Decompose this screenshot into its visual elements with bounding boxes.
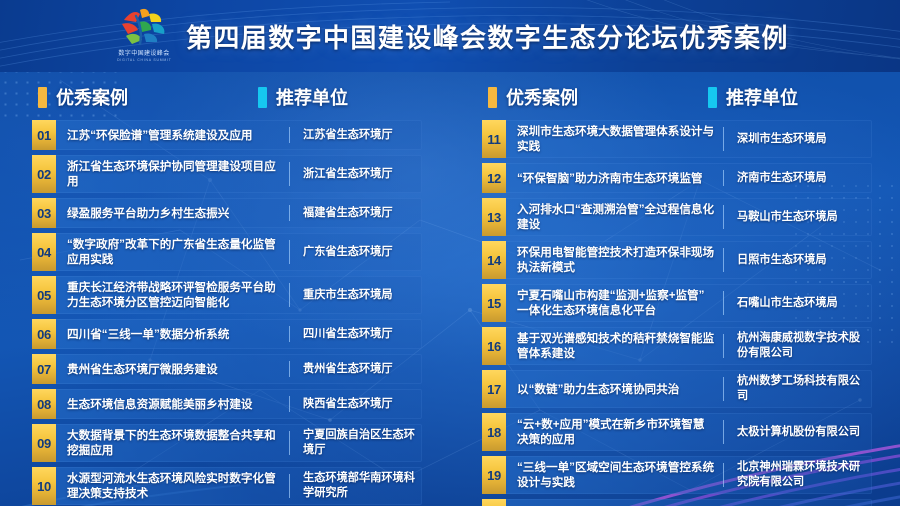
case-row[interactable]: 02浙江省生态环境保护协同管理建设项目应用浙江省生态环境厅 <box>32 155 422 193</box>
recommending-unit-cell: 宁夏回族自治区生态环境厅 <box>290 424 422 462</box>
case-row[interactable]: 13入河排水口“查测溯治管”全过程信息化建设马鞍山市生态环境局 <box>482 198 872 236</box>
case-title-cell: 基于双光谱感知技术的秸秆禁烧智能监管体系建设 <box>506 327 723 365</box>
case-title-cell: 深圳市生态环境大数据管理体系设计与实践 <box>506 120 723 158</box>
case-row[interactable]: 11深圳市生态环境大数据管理体系设计与实践深圳市生态环境局 <box>482 120 872 158</box>
gold-marker-icon <box>488 87 497 108</box>
case-title-cell: 生态环境信息资源赋能美丽乡村建设 <box>56 389 289 419</box>
case-table: 01江苏“环保脸谱”管理系统建设及应用江苏省生态环境厅02浙江省生态环境保护协同… <box>0 120 900 492</box>
header-unit-right: 推荐单位 <box>708 84 798 110</box>
case-title-cell: 入河排水口“查测溯治管”全过程信息化建设 <box>506 198 723 236</box>
poster-root: 数字中国建设峰会 DIGITAL CHINA SUMMIT 第四届数字中国建设峰… <box>0 0 900 506</box>
case-title-cell: 重点企业污染防治大数据应用 <box>506 499 723 506</box>
recommending-unit-cell: 生态环境部华南环境科学研究所 <box>290 467 422 505</box>
recommending-unit-cell: 杭州海康威视数字技术股份有限公司 <box>724 327 872 365</box>
case-title-text: 江苏“环保脸谱”管理系统建设及应用 <box>67 128 253 143</box>
case-number-badge: 10 <box>32 467 56 505</box>
recommending-unit-text: 重庆市生态环境局 <box>303 288 393 303</box>
case-row[interactable]: 16基于双光谱感知技术的秸秆禁烧智能监管体系建设杭州海康威视数字技术股份有限公司 <box>482 327 872 365</box>
case-row[interactable]: 10水源型河流水生态环境风险实时数字化管理决策支持技术生态环境部华南环境科学研究… <box>32 467 422 505</box>
recommending-unit-cell: 江苏省生态环境厅 <box>290 120 422 150</box>
recommending-unit-text: 江苏省生态环境厅 <box>303 128 393 143</box>
case-title-cell: 水源型河流水生态环境风险实时数字化管理决策支持技术 <box>56 467 289 505</box>
recommending-unit-cell: 四川省生态环境厅 <box>290 319 422 349</box>
recommending-unit-text: 北京神州瑞霖环境技术研究院有限公司 <box>737 460 868 490</box>
case-title-text: 重庆长江经济带战略环评智检服务平台助力生态环境分区管控迈向智能化 <box>67 280 281 310</box>
case-title-cell: “云+数+应用”模式在新乡市环境智慧决策的应用 <box>506 413 723 451</box>
case-title-cell: 江苏“环保脸谱”管理系统建设及应用 <box>56 120 289 150</box>
recommending-unit-text: 广东省生态环境厅 <box>303 245 393 260</box>
recommending-unit-cell: 福建省生态环境厅 <box>290 198 422 228</box>
page-title: 第四届数字中国建设峰会数字生态分论坛优秀案例 <box>186 18 789 55</box>
case-number-badge: 18 <box>482 413 506 451</box>
header-unit-label-left: 推荐单位 <box>276 84 348 110</box>
logo-chinese-text: 数字中国建设峰会 <box>118 51 169 58</box>
header-case-label-right: 优秀案例 <box>506 84 578 110</box>
case-number-badge: 07 <box>32 354 56 384</box>
recommending-unit-cell: 日照市生态环境局 <box>724 241 872 279</box>
case-number-badge: 03 <box>32 198 56 228</box>
case-table-left-column: 01江苏“环保脸谱”管理系统建设及应用江苏省生态环境厅02浙江省生态环境保护协同… <box>0 120 450 492</box>
cyan-marker-icon <box>258 87 267 108</box>
case-row[interactable]: 19“三线一单”区域空间生态环境管控系统设计与实践北京神州瑞霖环境技术研究院有限… <box>482 456 872 494</box>
case-title-text: 大数据背景下的生态环境数据整合共享和挖掘应用 <box>67 428 281 458</box>
case-title-text: 入河排水口“查测溯治管”全过程信息化建设 <box>517 202 715 232</box>
digital-china-summit-mark <box>116 6 172 50</box>
column-headers-left: 优秀案例 推荐单位 <box>0 84 450 116</box>
case-title-text: 绿盈服务平台助力乡村生态振兴 <box>67 206 229 221</box>
case-number-badge: 13 <box>482 198 506 236</box>
case-title-cell: 重庆长江经济带战略环评智检服务平台助力生态环境分区管控迈向智能化 <box>56 276 289 314</box>
case-title-text: 宁夏石嘴山市构建“监测+监察+监管”一体化生态环境信息化平台 <box>517 288 715 318</box>
case-number-badge: 12 <box>482 163 506 193</box>
cyan-marker-icon <box>708 87 717 108</box>
case-number-badge: 02 <box>32 155 56 193</box>
case-title-text: 浙江省生态环境保护协同管理建设项目应用 <box>67 159 281 189</box>
case-title-text: 深圳市生态环境大数据管理体系设计与实践 <box>517 124 715 154</box>
recommending-unit-cell: 深圳市生态环境局 <box>724 120 872 158</box>
case-title-text: 水源型河流水生态环境风险实时数字化管理决策支持技术 <box>67 471 281 501</box>
case-title-text: “环保智脑”助力济南市生态环境监管 <box>517 171 703 186</box>
case-row[interactable]: 08生态环境信息资源赋能美丽乡村建设陕西省生态环境厅 <box>32 389 422 419</box>
recommending-unit-text: 济南市生态环境局 <box>737 171 827 186</box>
case-title-cell: “数字政府”改革下的广东省生态量化监管应用实践 <box>56 233 289 271</box>
recommending-unit-cell: 杭州数梦工场科技有限公司 <box>724 370 872 408</box>
case-title-text: 基于双光谱感知技术的秸秆禁烧智能监管体系建设 <box>517 331 715 361</box>
recommending-unit-text: 四川省生态环境厅 <box>303 327 393 342</box>
recommending-unit-cell: 陕西省生态环境厅 <box>290 389 422 419</box>
header-bar: 数字中国建设峰会 DIGITAL CHINA SUMMIT 第四届数字中国建设峰… <box>0 0 900 72</box>
gold-marker-icon <box>38 87 47 108</box>
case-title-text: “云+数+应用”模式在新乡市环境智慧决策的应用 <box>517 417 715 447</box>
case-number-badge: 17 <box>482 370 506 408</box>
case-row[interactable]: 12“环保智脑”助力济南市生态环境监管济南市生态环境局 <box>482 163 872 193</box>
case-row[interactable]: 01江苏“环保脸谱”管理系统建设及应用江苏省生态环境厅 <box>32 120 422 150</box>
recommending-unit-cell: 广东省生态环境厅 <box>290 233 422 271</box>
recommending-unit-text: 杭州海康威视数字技术股份有限公司 <box>737 331 868 361</box>
case-title-text: 四川省“三线一单”数据分析系统 <box>67 327 229 342</box>
case-number-badge: 08 <box>32 389 56 419</box>
case-title-cell: 绿盈服务平台助力乡村生态振兴 <box>56 198 289 228</box>
case-title-text: 生态环境信息资源赋能美丽乡村建设 <box>67 397 253 412</box>
column-headers: 优秀案例 推荐单位 优秀案例 推荐单位 <box>0 84 900 116</box>
case-row[interactable]: 06四川省“三线一单”数据分析系统四川省生态环境厅 <box>32 319 422 349</box>
recommending-unit-text: 陕西省生态环境厅 <box>303 397 393 412</box>
case-title-text: 环保用电智能管控技术打造环保非现场执法新模式 <box>517 245 715 275</box>
case-number-badge: 16 <box>482 327 506 365</box>
recommending-unit-cell: 济南市生态环境局 <box>724 163 872 193</box>
case-number-badge: 04 <box>32 233 56 271</box>
case-title-cell: 大数据背景下的生态环境数据整合共享和挖掘应用 <box>56 424 289 462</box>
case-number-badge: 01 <box>32 120 56 150</box>
case-title-cell: 环保用电智能管控技术打造环保非现场执法新模式 <box>506 241 723 279</box>
case-title-cell: 贵州省生态环境厅微服务建设 <box>56 354 289 384</box>
case-row[interactable]: 05重庆长江经济带战略环评智检服务平台助力生态环境分区管控迈向智能化重庆市生态环… <box>32 276 422 314</box>
recommending-unit-text: 马鞍山市生态环境局 <box>737 210 838 225</box>
case-number-badge: 11 <box>482 120 506 158</box>
logo-english-text: DIGITAL CHINA SUMMIT <box>117 58 171 63</box>
case-row[interactable]: 03绿盈服务平台助力乡村生态振兴福建省生态环境厅 <box>32 198 422 228</box>
recommending-unit-text: 宁夏回族自治区生态环境厅 <box>303 428 418 458</box>
recommending-unit-cell: 太极计算机股份有限公司 <box>724 413 872 451</box>
case-title-cell: 以“数链”助力生态环境协同共治 <box>506 370 723 408</box>
case-row[interactable]: 17以“数链”助力生态环境协同共治杭州数梦工场科技有限公司 <box>482 370 872 408</box>
header-case-right: 优秀案例 <box>488 84 578 110</box>
case-title-cell: 浙江省生态环境保护协同管理建设项目应用 <box>56 155 289 193</box>
case-number-badge: 20 <box>482 499 506 506</box>
recommending-unit-cell: 马鞍山市生态环境局 <box>724 198 872 236</box>
case-title-cell: “三线一单”区域空间生态环境管控系统设计与实践 <box>506 456 723 494</box>
header-unit-left: 推荐单位 <box>258 84 348 110</box>
recommending-unit-text: 太极计算机股份有限公司 <box>737 425 860 440</box>
column-headers-right: 优秀案例 推荐单位 <box>450 84 900 116</box>
case-title-text: “数字政府”改革下的广东省生态量化监管应用实践 <box>67 237 281 267</box>
recommending-unit-text: 生态环境部华南环境科学研究所 <box>303 471 418 501</box>
case-number-badge: 15 <box>482 284 506 322</box>
recommending-unit-text: 日照市生态环境局 <box>737 253 827 268</box>
recommending-unit-text: 深圳市生态环境局 <box>737 132 827 147</box>
case-title-cell: 四川省“三线一单”数据分析系统 <box>56 319 289 349</box>
case-title-text: 以“数链”助力生态环境协同共治 <box>517 382 679 397</box>
recommending-unit-text: 浙江省生态环境厅 <box>303 167 393 182</box>
recommending-unit-cell: 浙江省生态环境厅 <box>290 155 422 193</box>
case-number-badge: 14 <box>482 241 506 279</box>
header-unit-label-right: 推荐单位 <box>726 84 798 110</box>
case-row[interactable]: 14环保用电智能管控技术打造环保非现场执法新模式日照市生态环境局 <box>482 241 872 279</box>
recommending-unit-cell: 石嘴山市生态环境局 <box>724 284 872 322</box>
case-row[interactable]: 07贵州省生态环境厅微服务建设贵州省生态环境厅 <box>32 354 422 384</box>
case-number-badge: 19 <box>482 456 506 494</box>
case-table-right-column: 11深圳市生态环境大数据管理体系设计与实践深圳市生态环境局12“环保智脑”助力济… <box>450 120 900 492</box>
recommending-unit-cell: 贵州省生态环境厅 <box>290 354 422 384</box>
case-row[interactable]: 18“云+数+应用”模式在新乡市环境智慧决策的应用太极计算机股份有限公司 <box>482 413 872 451</box>
case-row[interactable]: 15宁夏石嘴山市构建“监测+监察+监管”一体化生态环境信息化平台石嘴山市生态环境… <box>482 284 872 322</box>
case-row[interactable]: 04“数字政府”改革下的广东省生态量化监管应用实践广东省生态环境厅 <box>32 233 422 271</box>
recommending-unit-cell: 国网电子商务有限公司 <box>724 499 872 506</box>
recommending-unit-text: 福建省生态环境厅 <box>303 206 393 221</box>
recommending-unit-text: 石嘴山市生态环境局 <box>737 296 838 311</box>
summit-logo: 数字中国建设峰会 DIGITAL CHINA SUMMIT <box>108 6 180 68</box>
recommending-unit-cell: 北京神州瑞霖环境技术研究院有限公司 <box>724 456 872 494</box>
recommending-unit-text: 贵州省生态环境厅 <box>303 362 393 377</box>
case-title-text: 贵州省生态环境厅微服务建设 <box>67 362 218 377</box>
case-title-cell: 宁夏石嘴山市构建“监测+监察+监管”一体化生态环境信息化平台 <box>506 284 723 322</box>
header-case-left: 优秀案例 <box>38 84 128 110</box>
case-title-text: “三线一单”区域空间生态环境管控系统设计与实践 <box>517 460 715 490</box>
header-case-label-left: 优秀案例 <box>56 84 128 110</box>
case-row[interactable]: 09大数据背景下的生态环境数据整合共享和挖掘应用宁夏回族自治区生态环境厅 <box>32 424 422 462</box>
case-number-badge: 06 <box>32 319 56 349</box>
recommending-unit-cell: 重庆市生态环境局 <box>290 276 422 314</box>
case-title-cell: “环保智脑”助力济南市生态环境监管 <box>506 163 723 193</box>
case-row[interactable]: 20重点企业污染防治大数据应用国网电子商务有限公司 <box>482 499 872 506</box>
recommending-unit-text: 杭州数梦工场科技有限公司 <box>737 374 868 404</box>
case-number-badge: 05 <box>32 276 56 314</box>
case-number-badge: 09 <box>32 424 56 462</box>
